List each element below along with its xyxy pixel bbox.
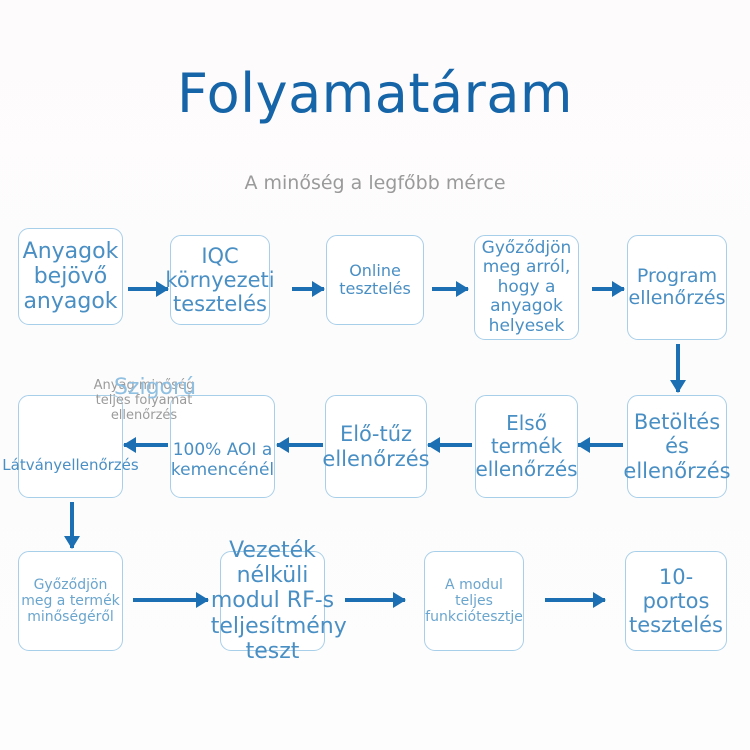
page-subtitle: A minőség a legfőbb mérce [0, 172, 750, 195]
node-aoi-kemencenel[interactable]: 100% AOI a kemencénél [170, 395, 275, 498]
arrow-row3-3 [545, 598, 605, 602]
node-label: 10-portos tesztelés [626, 565, 726, 637]
node-online-teszteles[interactable]: Online tesztelés [326, 235, 424, 325]
node-program-ellenorzes[interactable]: Program ellenőrzés [627, 235, 727, 340]
arrow-row2-2 [428, 443, 472, 447]
arrow-row3-2 [345, 598, 405, 602]
node-label: Első termék ellenőrzés [475, 412, 577, 481]
node-label: Győződjön meg a termék minőségéről [19, 577, 122, 625]
arrow-row1-1 [128, 287, 168, 291]
arrow-row2-3 [277, 443, 323, 447]
node-label: 100% AOI a kemencénél [171, 441, 274, 480]
node-gyozodjon-meg-arrol[interactable]: Győződjön meg arról, hogy a anyagok hely… [474, 235, 579, 340]
node-anyagok-bejovo-anyagok[interactable]: Anyagok bejövő anyagok [18, 228, 123, 325]
node-label: Program ellenőrzés [628, 266, 726, 310]
arrow-down-left [70, 502, 74, 548]
arrow-row2-4 [124, 443, 168, 447]
node-iqc-kornyezeti-teszteles[interactable]: IQC környezeti tesztelés [170, 235, 270, 325]
node-label: A modul teljes funkciótesztje [425, 577, 523, 625]
node-label: IQC környezeti tesztelés [165, 244, 274, 316]
page-title: Folyamatáram [0, 64, 750, 123]
node-gyozodjon-meg-termek-minosegerol[interactable]: Győződjön meg a termék minőségéről [18, 551, 123, 651]
node-label: Vezeték nélküli modul RF-s teljesítmény … [211, 538, 335, 664]
node-label: Betöltés és ellenőrzés [623, 410, 730, 482]
arrow-row1-2 [292, 287, 324, 291]
arrow-row3-1 [133, 598, 208, 602]
node-label: Online tesztelés [327, 262, 423, 299]
flowchart-canvas: Folyamatáram A minőség a legfőbb mérce A… [0, 0, 750, 750]
node-elso-termek-ellenorzes[interactable]: Első termék ellenőrzés [475, 395, 578, 498]
arrow-row2-1 [578, 443, 623, 447]
arrow-row1-4 [592, 287, 624, 291]
node-tiz-portos-teszteles[interactable]: 10-portos tesztelés [625, 551, 727, 651]
node-betoltes-es-ellenorzes[interactable]: Betöltés és ellenőrzés [627, 395, 727, 498]
node-elo-tuz-ellenorzes[interactable]: Elő-tűz ellenőrzés [325, 395, 427, 498]
node-vezetek-nelkuli-modul-rf[interactable]: Vezeték nélküli modul RF-s teljesítmény … [220, 551, 325, 651]
arrow-down-right [676, 344, 680, 392]
node-label: Látványellenőrzés [2, 457, 138, 474]
node-modul-teljes-funkcioteszt[interactable]: A modul teljes funkciótesztje [424, 551, 524, 651]
node-label: Anyagok bejövő anyagok [19, 239, 122, 315]
node-label: Győződjön meg arról, hogy a anyagok hely… [475, 239, 578, 337]
node-latvanyellenorzes[interactable]: Látványellenőrzés [18, 395, 123, 498]
node-label: Elő-tűz ellenőrzés [322, 422, 429, 470]
arrow-row1-3 [432, 287, 468, 291]
